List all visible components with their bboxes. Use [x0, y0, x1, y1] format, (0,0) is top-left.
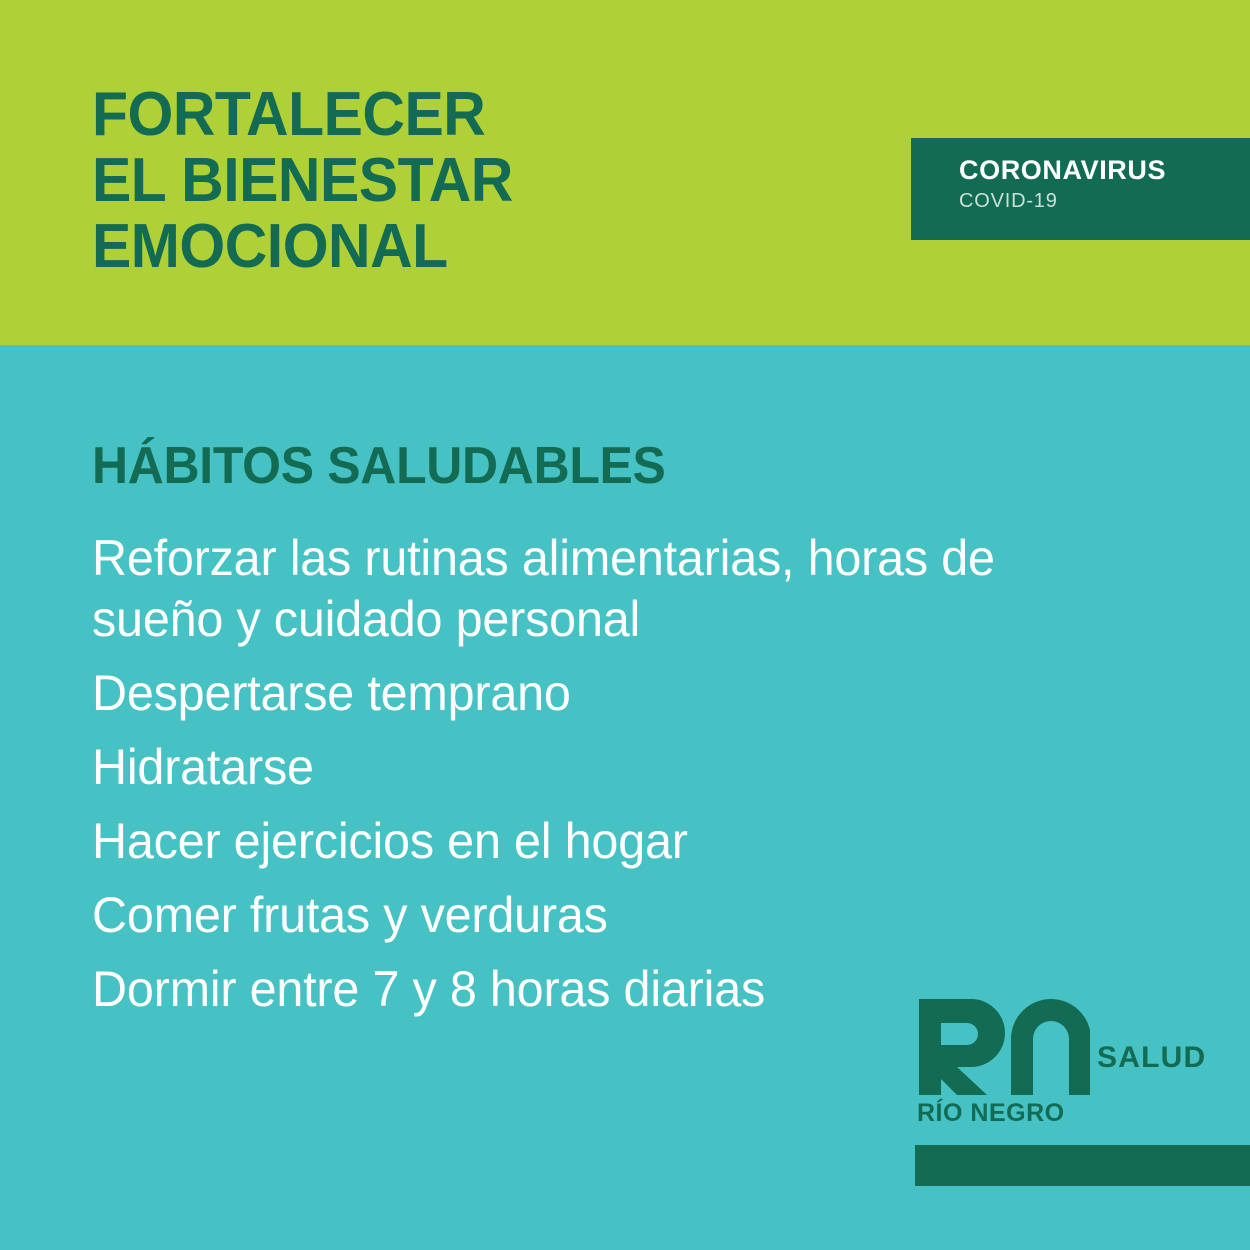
list-item: Comer frutas y verduras: [92, 885, 1072, 946]
list-item: Hacer ejercicios en el hogar: [92, 811, 1072, 872]
habits-list: Reforzar las rutinas alimentarias, horas…: [92, 528, 1102, 1033]
list-item: Despertarse temprano: [92, 663, 1072, 724]
coronavirus-badge: CORONAVIRUS COVID-19: [911, 138, 1250, 240]
badge-subtitle: COVID-19: [959, 190, 1058, 213]
badge-title: CORONAVIRUS: [959, 155, 1166, 186]
headline-line-3: EMOCIONAL: [92, 214, 513, 280]
list-item: Reforzar las rutinas alimentarias, horas…: [92, 528, 1043, 650]
headline-line-2: EL BIENESTAR: [92, 148, 513, 214]
rn-monogram-icon: RÍO NEGRO: [915, 995, 1090, 1125]
page-title: FORTALECER EL BIENESTAR EMOCIONAL: [92, 82, 513, 280]
logo-bottom-bar: [915, 1145, 1250, 1186]
list-item: Hidratarse: [92, 737, 1072, 798]
poster: FORTALECER EL BIENESTAR EMOCIONAL CORONA…: [0, 0, 1250, 1250]
province-wordmark: RÍO NEGRO: [917, 1098, 1065, 1125]
header-band: FORTALECER EL BIENESTAR EMOCIONAL CORONA…: [0, 0, 1250, 345]
section-title: HÁBITOS SALUDABLES: [92, 437, 666, 495]
headline-line-1: FORTALECER: [92, 82, 513, 148]
rio-negro-salud-logo: RÍO NEGRO SALUD: [915, 995, 1250, 1130]
department-label: SALUD: [1097, 1041, 1206, 1075]
